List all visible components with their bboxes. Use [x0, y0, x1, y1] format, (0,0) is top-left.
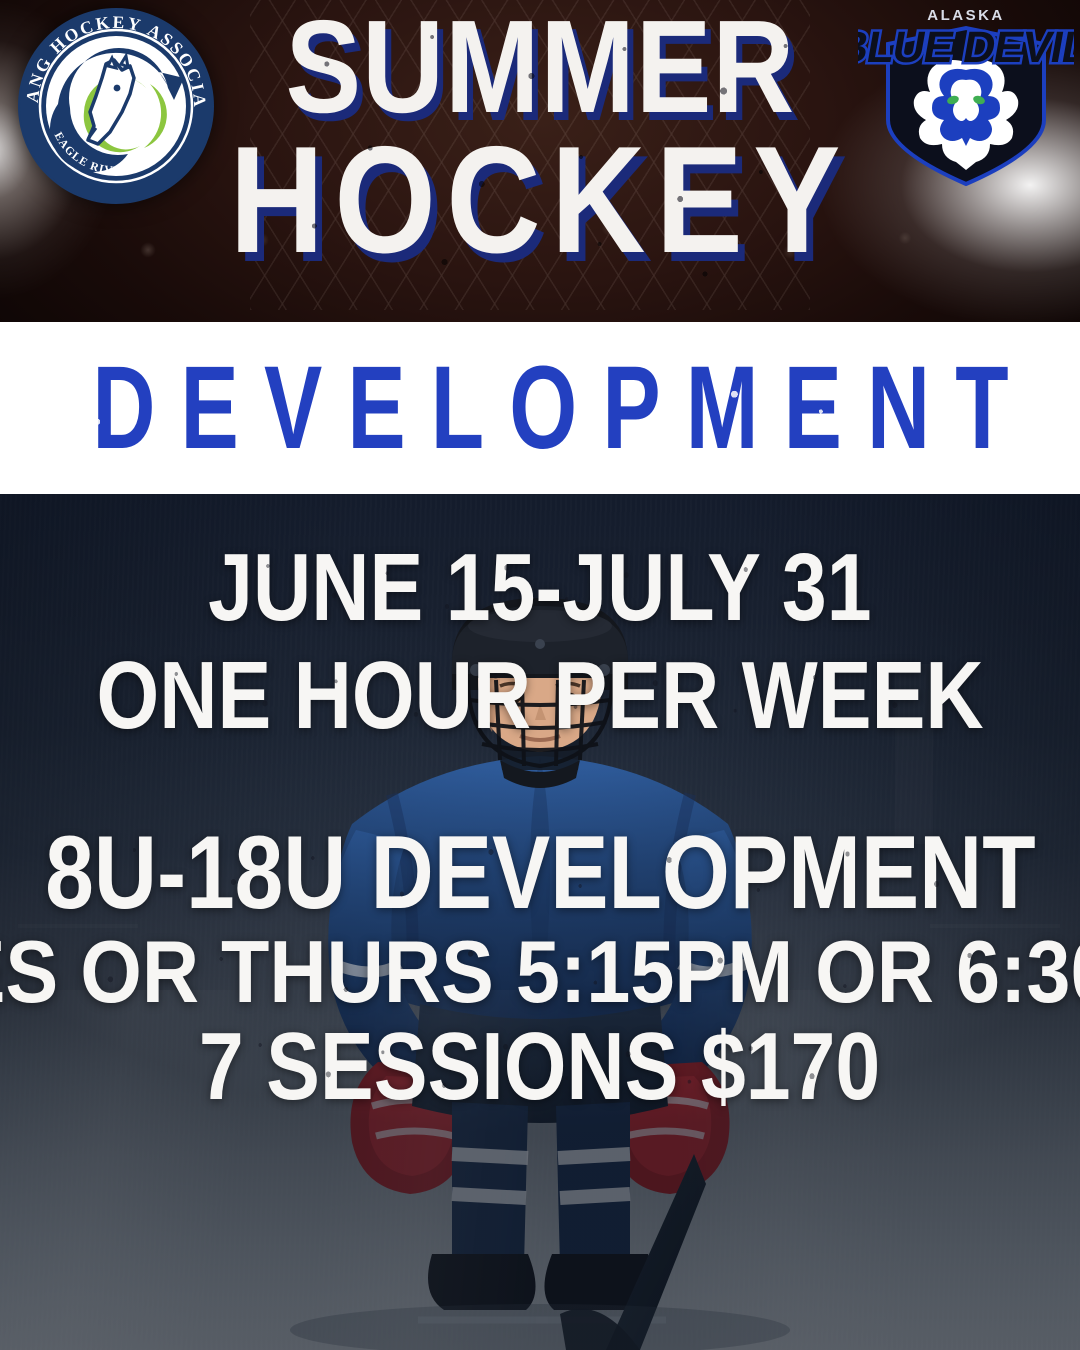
poster-header: SUMMER HOCKEY [0, 0, 1080, 322]
title-summer: SUMMER [285, 6, 795, 127]
blue-devils-logo-svg: ALASKA BLUE DEVILS [858, 0, 1074, 190]
blue-devils-alaska-text: ALASKA [927, 7, 1005, 24]
detail-dates: JUNE 15-JULY 31 [208, 542, 871, 634]
band-title-development: DEVELOPMENT [67, 349, 1034, 467]
poster-details-block: JUNE 15-JULY 31 ONE HOUR PER WEEK 8U-18U… [0, 494, 1080, 1350]
detail-frequency: ONE HOUR PER WEEK [96, 650, 983, 742]
mha-logo-svg: MUSTANG HOCKEY ASSOCIATION EAGLE RIVER, … [18, 8, 214, 204]
title-hockey: HOCKEY [229, 131, 850, 271]
detail-pricing: 7 SESSIONS $170 [199, 1021, 880, 1113]
mustang-hockey-association-logo: MUSTANG HOCKEY ASSOCIATION EAGLE RIVER, … [18, 8, 214, 204]
poster-main-photo: JUNE 15-JULY 31 ONE HOUR PER WEEK 8U-18U… [0, 494, 1080, 1350]
detail-age-group: 8U-18U DEVELOPMENT [45, 824, 1035, 924]
alaska-blue-devils-logo: ALASKA BLUE DEVILS [858, 0, 1074, 190]
summer-hockey-development-poster: SUMMER HOCKEY [0, 0, 1080, 1350]
detail-schedule: TUES OR THURS 5:15PM OR 6:30PM [0, 930, 1080, 1014]
blue-devils-wordmark: BLUE DEVILS [858, 23, 1074, 72]
development-band: DEVELOPMENT [0, 322, 1080, 494]
